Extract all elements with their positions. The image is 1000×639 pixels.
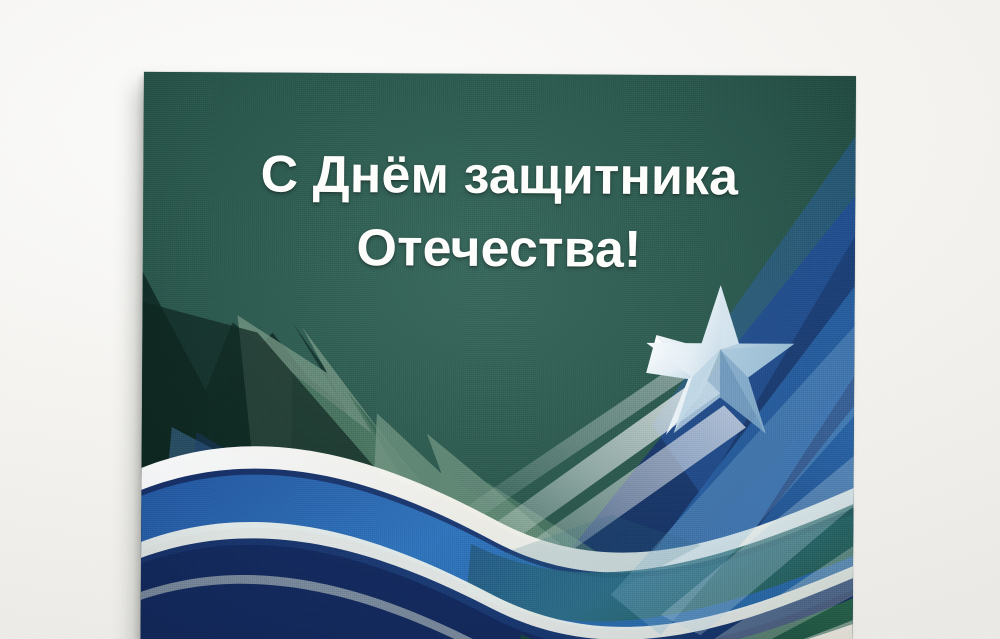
greeting-card[interactable]: С Днём защитника Отечества! xyxy=(140,72,856,639)
card-artwork xyxy=(140,72,856,639)
screenshot-scene: С Днём защитника Отечества! xyxy=(0,0,1000,639)
card-surface: С Днём защитника Отечества! xyxy=(140,72,856,639)
